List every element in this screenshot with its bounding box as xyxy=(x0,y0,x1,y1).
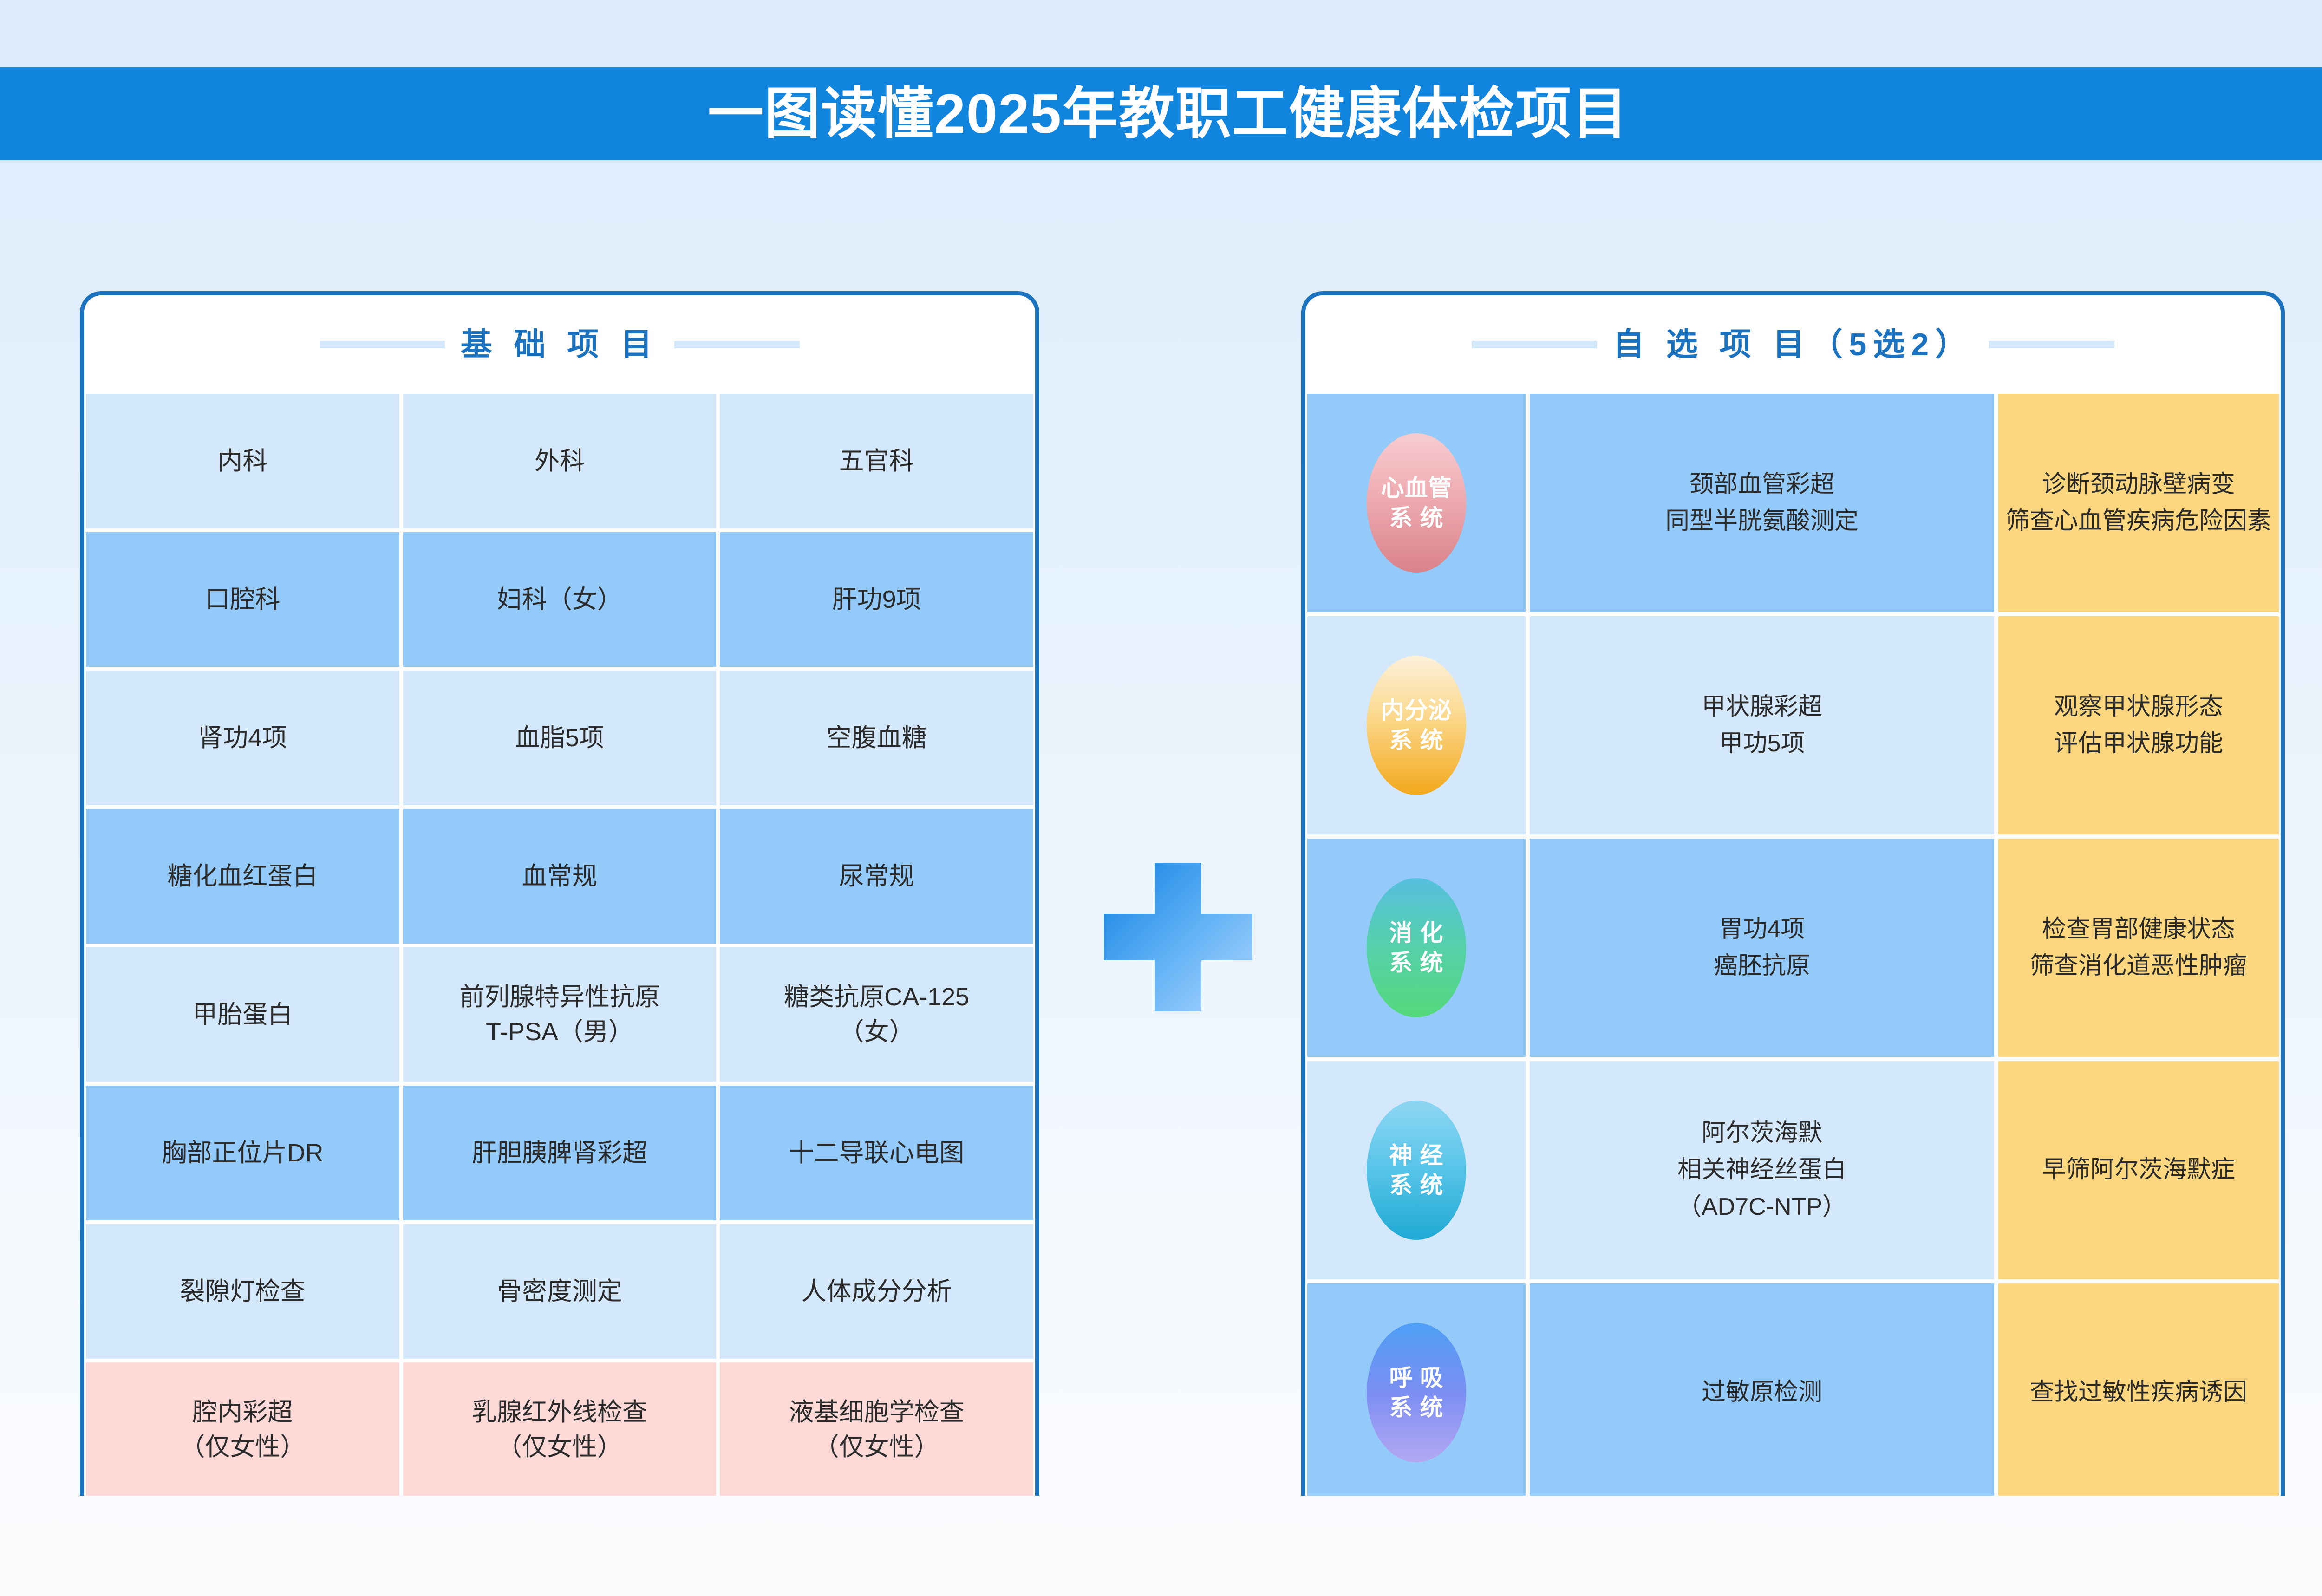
optional-purpose-label: 观察甲状腺形态 xyxy=(2054,689,2223,725)
system-badge-label: 系 统 xyxy=(1389,1393,1444,1422)
basic-item-label: 糖化血红蛋白 xyxy=(167,859,318,894)
optional-purpose-label: 查找过敏性疾病诱因 xyxy=(2030,1374,2247,1411)
system-badge-label: 心血管 xyxy=(1381,473,1452,503)
system-badge: 消 化系 统 xyxy=(1367,878,1466,1017)
optional-card-title-suffix: （5选2） xyxy=(1811,327,1974,362)
system-badge-cell: 内分泌系 统 xyxy=(1307,616,1526,834)
system-badge-cell: 呼 吸系 统 xyxy=(1307,1283,1526,1496)
basic-item-cell: 胸部正位片DR xyxy=(86,1086,399,1220)
optional-item-label: 颈部血管彩超 xyxy=(1689,466,1834,503)
optional-purpose-cell: 查找过敏性疾病诱因 xyxy=(1998,1283,2279,1496)
system-badge-label: 呼 吸 xyxy=(1389,1363,1444,1393)
basic-items-card: 基 础 项 目 内科外科五官科口腔科妇科（女）肝功9项肾功4项血脂5项空腹血糖糖… xyxy=(80,291,1039,1496)
basic-item-label: 乳腺红外线检查 xyxy=(472,1395,647,1430)
basic-item-label: （仅女性） xyxy=(180,1430,305,1465)
system-badge-cell: 心血管系 统 xyxy=(1307,394,1526,612)
optional-item-cell: 阿尔茨海默相关神经丝蛋白（AD7C-NTP） xyxy=(1530,1061,1994,1279)
optional-card-title-main: 自 选 项 目 xyxy=(1613,327,1811,362)
basic-item-label: 肝功9项 xyxy=(832,582,921,617)
optional-item-label: 同型半胱氨酸测定 xyxy=(1665,503,1859,540)
basic-item-cell: 液基细胞学检查（仅女性） xyxy=(720,1362,1033,1496)
basic-item-cell: 妇科（女） xyxy=(403,532,717,667)
header-rule-right xyxy=(1989,341,2114,348)
basic-item-label: 妇科（女） xyxy=(497,582,622,617)
optional-purpose-label: 评估甲状腺功能 xyxy=(2054,725,2223,762)
system-badge-label: 内分泌 xyxy=(1381,696,1452,725)
basic-item-cell: 尿常规 xyxy=(720,809,1033,944)
header-rule-right xyxy=(674,341,800,348)
header-rule-left xyxy=(320,341,445,348)
basic-item-cell: 血脂5项 xyxy=(403,671,717,805)
basic-item-label: 骨密度测定 xyxy=(497,1274,622,1309)
system-badge: 心血管系 统 xyxy=(1367,433,1466,573)
basic-item-cell: 口腔科 xyxy=(86,532,399,667)
system-badge-label: 消 化 xyxy=(1389,918,1444,948)
basic-item-label: 肝胆胰脾肾彩超 xyxy=(472,1136,647,1171)
optional-item-label: （AD7C-NTP） xyxy=(1677,1189,1846,1225)
optional-purpose-label: 诊断颈动脉壁病变 xyxy=(2042,466,2235,503)
optional-item-cell: 胃功4项癌胚抗原 xyxy=(1530,839,1994,1057)
optional-purpose-cell: 早筛阿尔茨海默症 xyxy=(1998,1061,2279,1279)
basic-item-cell: 空腹血糖 xyxy=(720,671,1033,805)
basic-item-label: 口腔科 xyxy=(205,582,280,617)
basic-item-label: 甲胎蛋白 xyxy=(192,997,293,1032)
optional-item-cell: 过敏原检测 xyxy=(1530,1283,1994,1496)
optional-item-label: 阿尔茨海默 xyxy=(1702,1115,1822,1152)
basic-item-cell: 人体成分分析 xyxy=(720,1224,1033,1359)
plus-horizontal-bar xyxy=(1104,914,1252,960)
header-rule-left xyxy=(1472,341,1597,348)
basic-item-label: 十二导联心电图 xyxy=(789,1136,965,1171)
basic-item-label: （仅女性） xyxy=(497,1430,622,1465)
optional-purpose-label: 检查胃部健康状态 xyxy=(2042,911,2235,948)
system-badge: 内分泌系 统 xyxy=(1367,656,1466,795)
basic-item-label: T-PSA（男） xyxy=(486,1015,633,1049)
basic-item-label: 五官科 xyxy=(839,444,914,479)
optional-purpose-label: 筛查消化道恶性肿瘤 xyxy=(2030,948,2247,984)
basic-items-grid: 内科外科五官科口腔科妇科（女）肝功9项肾功4项血脂5项空腹血糖糖化血红蛋白血常规… xyxy=(84,394,1035,1496)
basic-item-label: 血常规 xyxy=(522,859,597,894)
basic-item-label: 裂隙灯检查 xyxy=(180,1274,305,1309)
basic-item-label: 肾功4项 xyxy=(198,721,287,756)
basic-item-cell: 甲胎蛋白 xyxy=(86,947,399,1082)
basic-item-cell: 外科 xyxy=(403,394,717,528)
basic-card-title: 基 础 项 目 xyxy=(461,329,659,360)
basic-item-cell: 骨密度测定 xyxy=(403,1224,717,1359)
optional-item-cell: 甲状腺彩超甲功5项 xyxy=(1530,616,1994,834)
optional-card-title: 自 选 项 目（5选2） xyxy=(1613,329,1973,360)
basic-item-label: 胸部正位片DR xyxy=(162,1136,323,1171)
basic-item-cell: 十二导联心电图 xyxy=(720,1086,1033,1220)
basic-item-label: 内科 xyxy=(217,444,267,479)
basic-item-label: （仅女性） xyxy=(814,1430,939,1465)
basic-item-cell: 裂隙灯检查 xyxy=(86,1224,399,1359)
basic-item-label: 液基细胞学检查 xyxy=(789,1395,965,1430)
page-title: 一图读懂2025年教职工健康体检项目 xyxy=(708,86,1629,142)
basic-item-label: 血脂5项 xyxy=(515,721,604,756)
basic-item-label: 空腹血糖 xyxy=(827,721,927,756)
basic-item-cell: 肝功9项 xyxy=(720,532,1033,667)
system-badge-label: 系 统 xyxy=(1389,725,1444,755)
basic-item-cell: 肝胆胰脾肾彩超 xyxy=(403,1086,717,1220)
optional-items-card: 自 选 项 目（5选2） 心血管系 统颈部血管彩超同型半胱氨酸测定诊断颈动脉壁病… xyxy=(1301,291,2285,1496)
basic-item-cell: 糖类抗原CA-125（女） xyxy=(720,947,1033,1082)
optional-purpose-cell: 检查胃部健康状态筛查消化道恶性肿瘤 xyxy=(1998,839,2279,1057)
basic-item-cell: 腔内彩超（仅女性） xyxy=(86,1362,399,1496)
system-badge: 呼 吸系 统 xyxy=(1367,1323,1466,1462)
page-header-banner: 一图读懂2025年教职工健康体检项目 xyxy=(0,67,2322,160)
system-badge-label: 系 统 xyxy=(1389,948,1444,977)
system-badge-label: 系 统 xyxy=(1389,503,1444,533)
optional-purpose-label: 筛查心血管疾病危险因素 xyxy=(2006,503,2271,540)
optional-item-label: 相关神经丝蛋白 xyxy=(1677,1152,1846,1188)
basic-item-cell: 肾功4项 xyxy=(86,671,399,805)
basic-item-cell: 乳腺红外线检查（仅女性） xyxy=(403,1362,717,1496)
basic-item-label: 人体成分分析 xyxy=(802,1274,952,1309)
optional-purpose-cell: 观察甲状腺形态评估甲状腺功能 xyxy=(1998,616,2279,834)
plus-icon xyxy=(1104,863,1252,1011)
optional-item-label: 胃功4项 xyxy=(1719,911,1805,948)
optional-item-label: 甲功5项 xyxy=(1719,725,1805,762)
basic-item-label: 尿常规 xyxy=(839,859,914,894)
basic-item-label: 外科 xyxy=(535,444,585,479)
basic-item-cell: 五官科 xyxy=(720,394,1033,528)
system-badge-cell: 消 化系 统 xyxy=(1307,839,1526,1057)
system-badge-label: 系 统 xyxy=(1389,1170,1444,1200)
system-badge-label: 神 经 xyxy=(1389,1140,1444,1170)
basic-item-cell: 血常规 xyxy=(403,809,717,944)
optional-item-cell: 颈部血管彩超同型半胱氨酸测定 xyxy=(1530,394,1994,612)
optional-item-label: 癌胚抗原 xyxy=(1714,948,1810,984)
basic-item-label: 糖类抗原CA-125 xyxy=(784,980,969,1015)
optional-card-header: 自 选 项 目（5选2） xyxy=(1305,295,2281,394)
basic-item-cell: 糖化血红蛋白 xyxy=(86,809,399,944)
basic-item-label: （女） xyxy=(839,1015,914,1049)
basic-item-label: 前列腺特异性抗原 xyxy=(459,980,660,1015)
optional-item-label: 甲状腺彩超 xyxy=(1702,689,1822,725)
optional-purpose-cell: 诊断颈动脉壁病变筛查心血管疾病危险因素 xyxy=(1998,394,2279,612)
basic-item-cell: 前列腺特异性抗原T-PSA（男） xyxy=(403,947,717,1082)
optional-items-grid: 心血管系 统颈部血管彩超同型半胱氨酸测定诊断颈动脉壁病变筛查心血管疾病危险因素内… xyxy=(1305,394,2281,1496)
system-badge-cell: 神 经系 统 xyxy=(1307,1061,1526,1279)
basic-item-cell: 内科 xyxy=(86,394,399,528)
basic-card-header: 基 础 项 目 xyxy=(84,295,1035,394)
optional-purpose-label: 早筛阿尔茨海默症 xyxy=(2042,1152,2235,1188)
system-badge: 神 经系 统 xyxy=(1367,1101,1466,1240)
optional-item-label: 过敏原检测 xyxy=(1702,1374,1822,1411)
basic-item-label: 腔内彩超 xyxy=(192,1395,293,1430)
